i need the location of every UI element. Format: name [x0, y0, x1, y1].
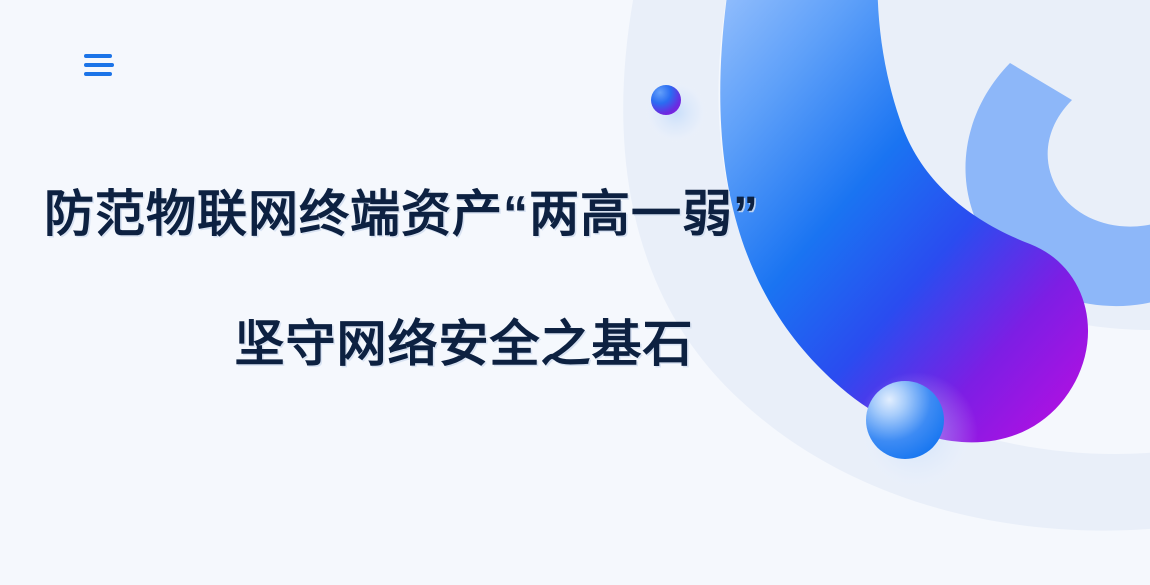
large-sphere-glow: [854, 372, 978, 496]
hamburger-bar-top: [84, 54, 112, 58]
headline-line-1: 防范物联网终端资产“两高一弱”: [0, 186, 880, 242]
large-blue-sphere: [866, 381, 944, 459]
hamburger-menu-button[interactable]: [84, 50, 118, 80]
page-title: 防范物联网终端资产“两高一弱” 坚守网络安全之基石: [0, 186, 880, 372]
small-gradient-sphere: [651, 85, 681, 115]
slide-canvas: 防范物联网终端资产“两高一弱” 坚守网络安全之基石: [0, 0, 1150, 585]
hamburger-bar-middle: [84, 63, 114, 67]
headline-line-2: 坚守网络安全之基石: [0, 316, 884, 372]
hamburger-bar-bottom: [84, 72, 112, 76]
small-sphere-glow: [644, 80, 708, 144]
light-blue-arc: [965, 63, 1150, 306]
